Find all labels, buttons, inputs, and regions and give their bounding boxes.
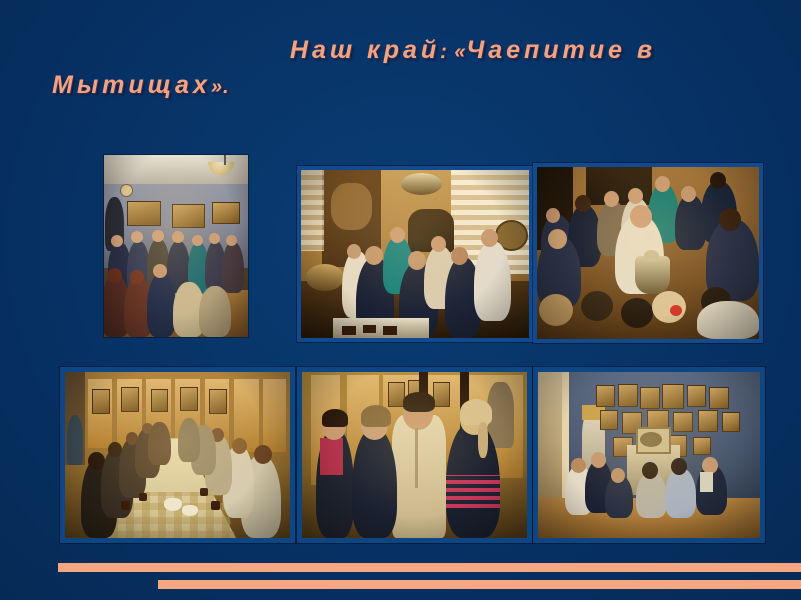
photo-3-scene (537, 167, 759, 339)
photo-3[interactable] (533, 163, 763, 343)
photo-4[interactable] (60, 367, 295, 543)
slide-canvas: Наш край: «Чаепитие в Мытищах». (0, 0, 801, 600)
title-line-2-punct: ». (211, 76, 230, 98)
photo-6[interactable] (533, 367, 765, 543)
photo-6-scene (538, 372, 760, 538)
bottom-rule-2 (158, 580, 801, 589)
title-line-2: Мытищах». (34, 69, 674, 104)
photo-1[interactable] (104, 155, 248, 337)
page-title: Наш край: «Чаепитие в Мытищах». (34, 34, 674, 104)
title-line-2-main: Мытищах (52, 71, 211, 99)
photo-2[interactable] (297, 166, 533, 342)
title-line-1-main: Наш край (290, 36, 440, 64)
photo-5[interactable] (297, 367, 532, 543)
photo-1-scene (104, 155, 248, 337)
title-line-1-rest: Чаепитие в (467, 36, 657, 64)
bottom-rule-1 (58, 563, 801, 572)
photo-4-scene (65, 372, 290, 538)
photo-2-scene (301, 170, 529, 338)
photo-5-scene (302, 372, 527, 538)
title-line-1: Наш край: «Чаепитие в (34, 34, 674, 69)
title-line-1-punct: : « (440, 41, 466, 63)
